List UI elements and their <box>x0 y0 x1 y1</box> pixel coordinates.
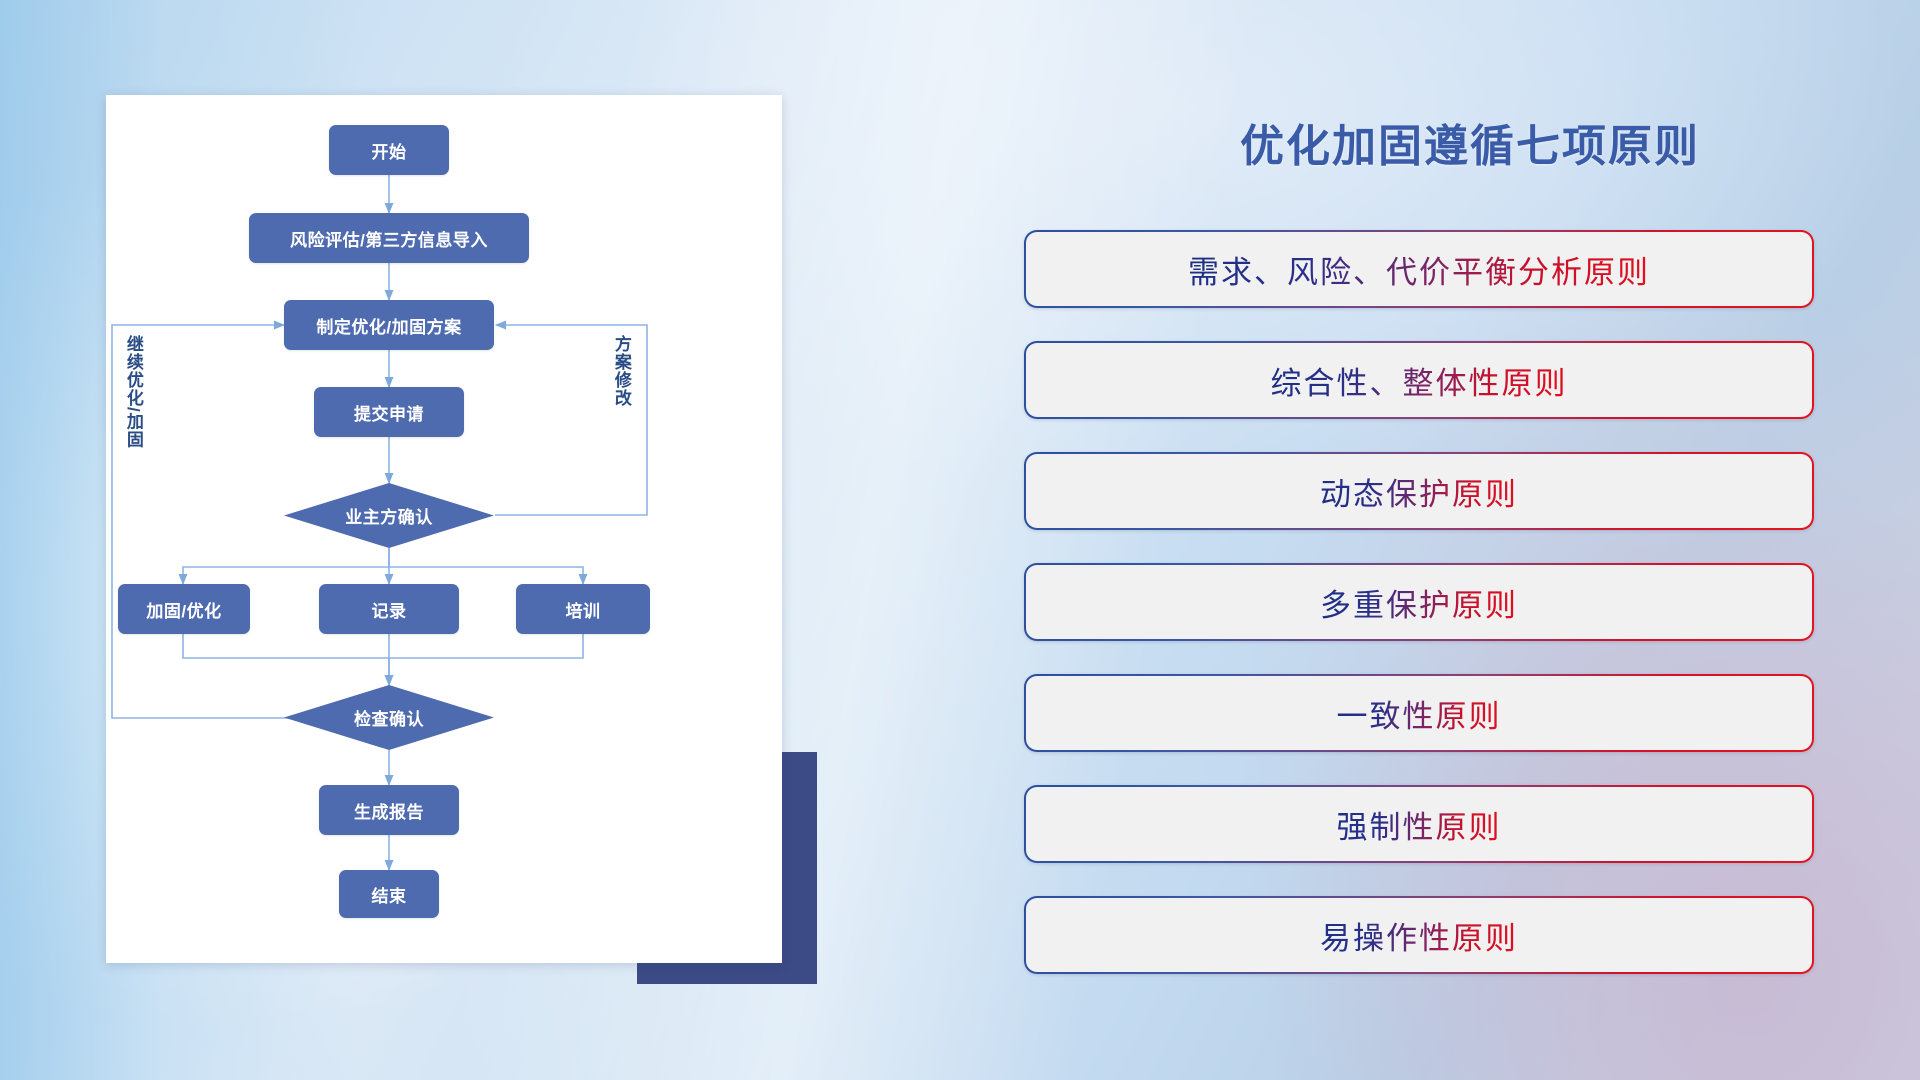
principle-label: 动态保护原则 <box>1320 469 1518 514</box>
flowchart-stage: 开始 风险评估/第三方信息导入 制定优化/加固方案 提交申请 业主方确认 加固/… <box>106 95 782 963</box>
principle-card[interactable]: 易操作性原则 <box>1024 896 1814 974</box>
principle-label: 多重保护原则 <box>1320 580 1518 625</box>
flow-node-risk-assessment[interactable]: 风险评估/第三方信息导入 <box>249 213 529 263</box>
principles-title: 优化加固遵循七项原则 <box>1150 110 1790 174</box>
flow-edge-label-plan-revision: 方案修改 <box>612 335 630 445</box>
flow-node-submit-application[interactable]: 提交申请 <box>314 387 464 437</box>
principle-card-inner: 易操作性原则 <box>1026 898 1812 972</box>
principle-label: 强制性原则 <box>1337 802 1502 847</box>
principle-card-inner: 需求、风险、代价平衡分析原则 <box>1026 232 1812 306</box>
principle-card-inner: 强制性原则 <box>1026 787 1812 861</box>
principle-card-inner: 一致性原则 <box>1026 676 1812 750</box>
principles-panel: 优化加固遵循七项原则 需求、风险、代价平衡分析原则 综合性、整体性原则 动态保护… <box>1020 0 1920 1080</box>
principle-label: 易操作性原则 <box>1320 913 1518 958</box>
principle-card-inner: 多重保护原则 <box>1026 565 1812 639</box>
principles-list: 需求、风险、代价平衡分析原则 综合性、整体性原则 动态保护原则 多重保护原则 一… <box>1020 230 1920 1007</box>
principle-label: 综合性、整体性原则 <box>1271 358 1568 403</box>
principle-card[interactable]: 动态保护原则 <box>1024 452 1814 530</box>
flow-node-record[interactable]: 记录 <box>319 584 459 634</box>
principle-card[interactable]: 综合性、整体性原则 <box>1024 341 1814 419</box>
flow-node-generate-report[interactable]: 生成报告 <box>319 785 459 835</box>
flow-node-reinforce-optimize[interactable]: 加固/优化 <box>118 584 250 634</box>
flowchart-panel: 开始 风险评估/第三方信息导入 制定优化/加固方案 提交申请 业主方确认 加固/… <box>106 95 782 963</box>
flow-node-end[interactable]: 结束 <box>339 870 439 918</box>
flow-node-training[interactable]: 培训 <box>516 584 650 634</box>
principle-card[interactable]: 强制性原则 <box>1024 785 1814 863</box>
principle-card[interactable]: 需求、风险、代价平衡分析原则 <box>1024 230 1814 308</box>
principle-card[interactable]: 多重保护原则 <box>1024 563 1814 641</box>
principle-label: 一致性原则 <box>1337 691 1502 736</box>
principle-card-inner: 动态保护原则 <box>1026 454 1812 528</box>
flow-edge-label-continue-optimize: 继续优化/加固 <box>124 335 142 485</box>
principle-label: 需求、风险、代价平衡分析原则 <box>1188 247 1650 292</box>
principle-card[interactable]: 一致性原则 <box>1024 674 1814 752</box>
principle-card-inner: 综合性、整体性原则 <box>1026 343 1812 417</box>
flow-node-make-plan[interactable]: 制定优化/加固方案 <box>284 300 494 350</box>
flow-node-start[interactable]: 开始 <box>329 125 449 175</box>
